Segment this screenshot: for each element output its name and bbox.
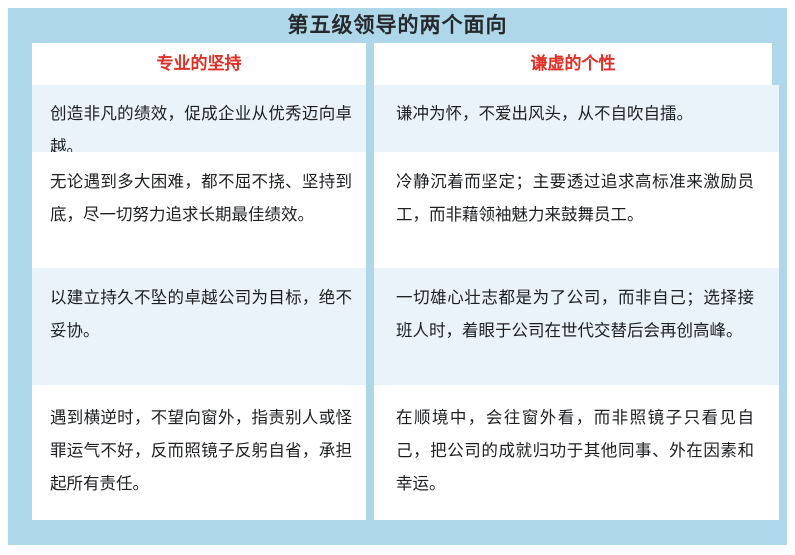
table-cell-left: 遇到横逆时，不望向窗外，指责别人或怪罪运气不好，反而照镜子反躬自省，承担起所有责… xyxy=(32,385,366,500)
table-cell-right: 在顺境中，会往窗外看，而非照镜子只看见自己，把公司的成就归功于其他同事、外在因素… xyxy=(374,385,772,500)
frame-left-edge xyxy=(8,43,32,528)
table-panel: 第五级领导的两个面向 专业的坚持 谦虚的个性 创造非凡的绩效，促成企业从优秀迈向… xyxy=(8,8,787,545)
table-row: 无论遇到多大困难，都不屈不挠、坚持到底，尽一切努力追求长期最佳绩效。 冷静沉着而… xyxy=(32,152,779,268)
table-row: 遇到横逆时，不望向窗外，指责别人或怪罪运气不好，反而照镜子反躬自省，承担起所有责… xyxy=(32,385,779,520)
page-title: 第五级领导的两个面向 xyxy=(8,8,787,43)
comparison-table: 专业的坚持 谦虚的个性 创造非凡的绩效，促成企业从优秀迈向卓越。 谦冲为怀，不爱… xyxy=(32,43,779,520)
frame-bottom-edge xyxy=(8,528,787,545)
column-header-label: 谦虚的个性 xyxy=(374,43,772,85)
column-header-cell-personal-humility: 谦虚的个性 xyxy=(374,43,772,85)
table-cell-left: 以建立持久不坠的卓越公司为目标，绝不妥协。 xyxy=(32,268,366,347)
cell-text: 以建立持久不坠的卓越公司为目标，绝不妥协。 xyxy=(32,268,366,347)
frame-right-edge xyxy=(779,43,787,528)
cell-text: 谦冲为怀，不爱出风头，从不自吹自擂。 xyxy=(374,85,772,130)
column-header-label: 专业的坚持 xyxy=(32,43,366,85)
cell-text: 一切雄心壮志都是为了公司，而非自己；选择接班人时，着眼于公司在世代交替后会再创高… xyxy=(374,268,772,347)
table-cell-left: 无论遇到多大困难，都不屈不挠、坚持到底，尽一切努力追求长期最佳绩效。 xyxy=(32,152,366,231)
table-row: 创造非凡的绩效，促成企业从优秀迈向卓越。 谦冲为怀，不爱出风头，从不自吹自擂。 xyxy=(32,85,779,152)
column-header-cell-professional-will: 专业的坚持 xyxy=(32,43,366,85)
table-cell-right: 一切雄心壮志都是为了公司，而非自己；选择接班人时，着眼于公司在世代交替后会再创高… xyxy=(374,268,772,347)
cell-text: 冷静沉着而坚定；主要透过追求高标准来激励员工，而非藉领袖魅力来鼓舞员工。 xyxy=(374,152,772,231)
table-cell-right: 冷静沉着而坚定；主要透过追求高标准来激励员工，而非藉领袖魅力来鼓舞员工。 xyxy=(374,152,772,231)
table-row: 以建立持久不坠的卓越公司为目标，绝不妥协。 一切雄心壮志都是为了公司，而非自己；… xyxy=(32,268,779,385)
cell-text: 遇到横逆时，不望向窗外，指责别人或怪罪运气不好，反而照镜子反躬自省，承担起所有责… xyxy=(32,385,366,500)
table-header-row: 专业的坚持 谦虚的个性 xyxy=(32,43,772,85)
cell-text: 在顺境中，会往窗外看，而非照镜子只看见自己，把公司的成就归功于其他同事、外在因素… xyxy=(374,385,772,500)
table-cell-right: 谦冲为怀，不爱出风头，从不自吹自擂。 xyxy=(374,85,772,130)
column-divider xyxy=(366,43,374,528)
cell-text: 无论遇到多大困难，都不屈不挠、坚持到底，尽一切努力追求长期最佳绩效。 xyxy=(32,152,366,231)
